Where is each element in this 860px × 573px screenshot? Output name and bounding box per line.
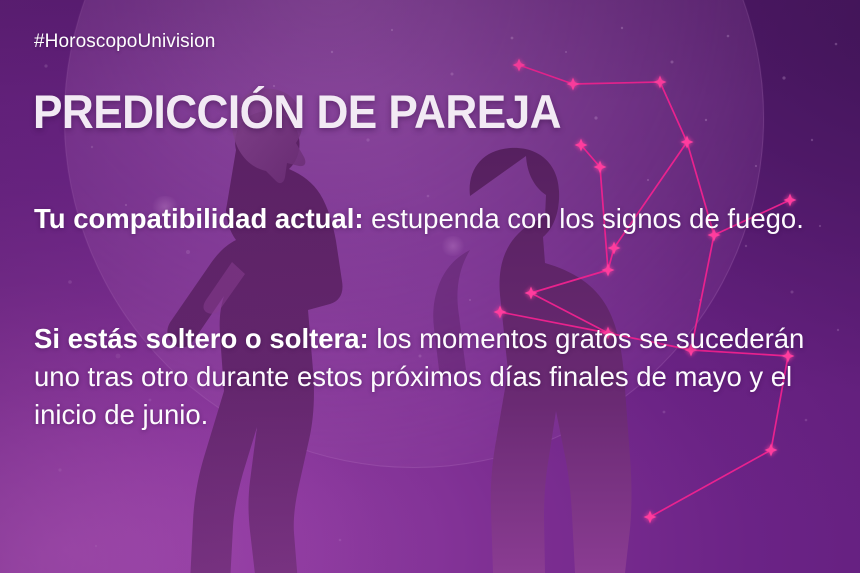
hashtag-label: #HoroscopoUnivision	[34, 31, 215, 53]
paragraph-compatibility-rest: estupenda con los signos de fuego.	[364, 203, 804, 234]
horoscope-card: #HoroscopoUnivision PREDICCIÓN DE PAREJA…	[0, 0, 860, 573]
paragraph-compatibility: Tu compatibilidad actual: estupenda con …	[34, 200, 834, 238]
page-title: PREDICCIÓN DE PAREJA	[33, 86, 561, 138]
paragraph-compatibility-lead: Tu compatibilidad actual:	[34, 203, 364, 234]
paragraph-single: Si estás soltero o soltera: los momentos…	[34, 320, 834, 434]
paragraph-single-lead: Si estás soltero o soltera:	[34, 323, 369, 354]
text-content: #HoroscopoUnivision PREDICCIÓN DE PAREJA…	[0, 0, 860, 573]
